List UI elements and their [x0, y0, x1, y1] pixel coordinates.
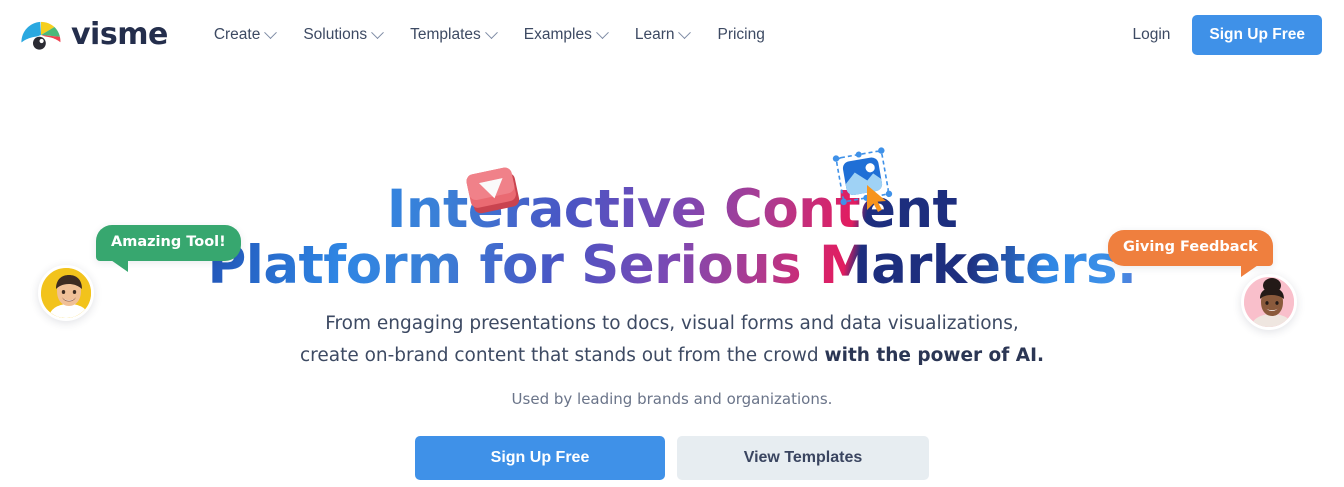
main-navigation: Create Solutions Templates Examples Lear… [200, 19, 779, 51]
chevron-down-icon [371, 26, 384, 39]
chevron-down-icon [264, 26, 277, 39]
hero-view-templates-button[interactable]: View Templates [677, 436, 929, 480]
login-link[interactable]: Login [1132, 26, 1170, 44]
nav-item-examples[interactable]: Examples [510, 19, 621, 51]
hero-subheading: From engaging presentations to docs, vis… [0, 308, 1344, 372]
site-header: visme Create Solutions Templates Example… [0, 0, 1344, 70]
avatar-male-user [38, 265, 94, 321]
nav-label: Create [214, 27, 261, 43]
speech-bubble-amazing-tool: Amazing Tool! [96, 225, 241, 261]
chevron-down-icon [679, 26, 692, 39]
chevron-down-icon [485, 26, 498, 39]
hero-section: Interactive Content Platform for Serious… [0, 70, 1344, 487]
video-play-tile-icon [463, 162, 527, 220]
used-by-caption: Used by leading brands and organizations… [0, 390, 1344, 408]
hero-signup-free-button[interactable]: Sign Up Free [415, 436, 665, 480]
nav-item-templates[interactable]: Templates [396, 19, 510, 51]
visme-wordmark: visme [71, 20, 168, 50]
image-selected-cursor-icon [829, 147, 899, 213]
hero-cta-row: Sign Up Free View Templates [0, 436, 1344, 480]
nav-item-create[interactable]: Create [200, 19, 290, 51]
visme-landing-hero-page: visme Create Solutions Templates Example… [0, 0, 1344, 487]
nav-label: Examples [524, 27, 592, 43]
nav-label: Templates [410, 27, 481, 43]
speech-bubble-giving-feedback: Giving Feedback [1108, 230, 1273, 266]
subhead-line-2-bold: with the power of AI. [825, 345, 1044, 366]
visme-fan-logo-icon [18, 12, 64, 58]
header-signup-free-button[interactable]: Sign Up Free [1192, 15, 1322, 54]
logo-home-link[interactable]: visme [18, 12, 168, 58]
nav-label: Pricing [717, 27, 764, 43]
nav-label: Learn [635, 27, 675, 43]
nav-label: Solutions [303, 27, 367, 43]
avatar-female-user [1241, 274, 1297, 330]
subhead-line-2-normal: create on-brand content that stands out … [300, 345, 825, 366]
chevron-down-icon [596, 26, 609, 39]
header-actions: Login Sign Up Free [1132, 15, 1322, 54]
subhead-line-1: From engaging presentations to docs, vis… [325, 313, 1019, 334]
nav-item-pricing[interactable]: Pricing [703, 19, 778, 51]
nav-item-solutions[interactable]: Solutions [289, 19, 396, 51]
nav-item-learn[interactable]: Learn [621, 19, 704, 51]
